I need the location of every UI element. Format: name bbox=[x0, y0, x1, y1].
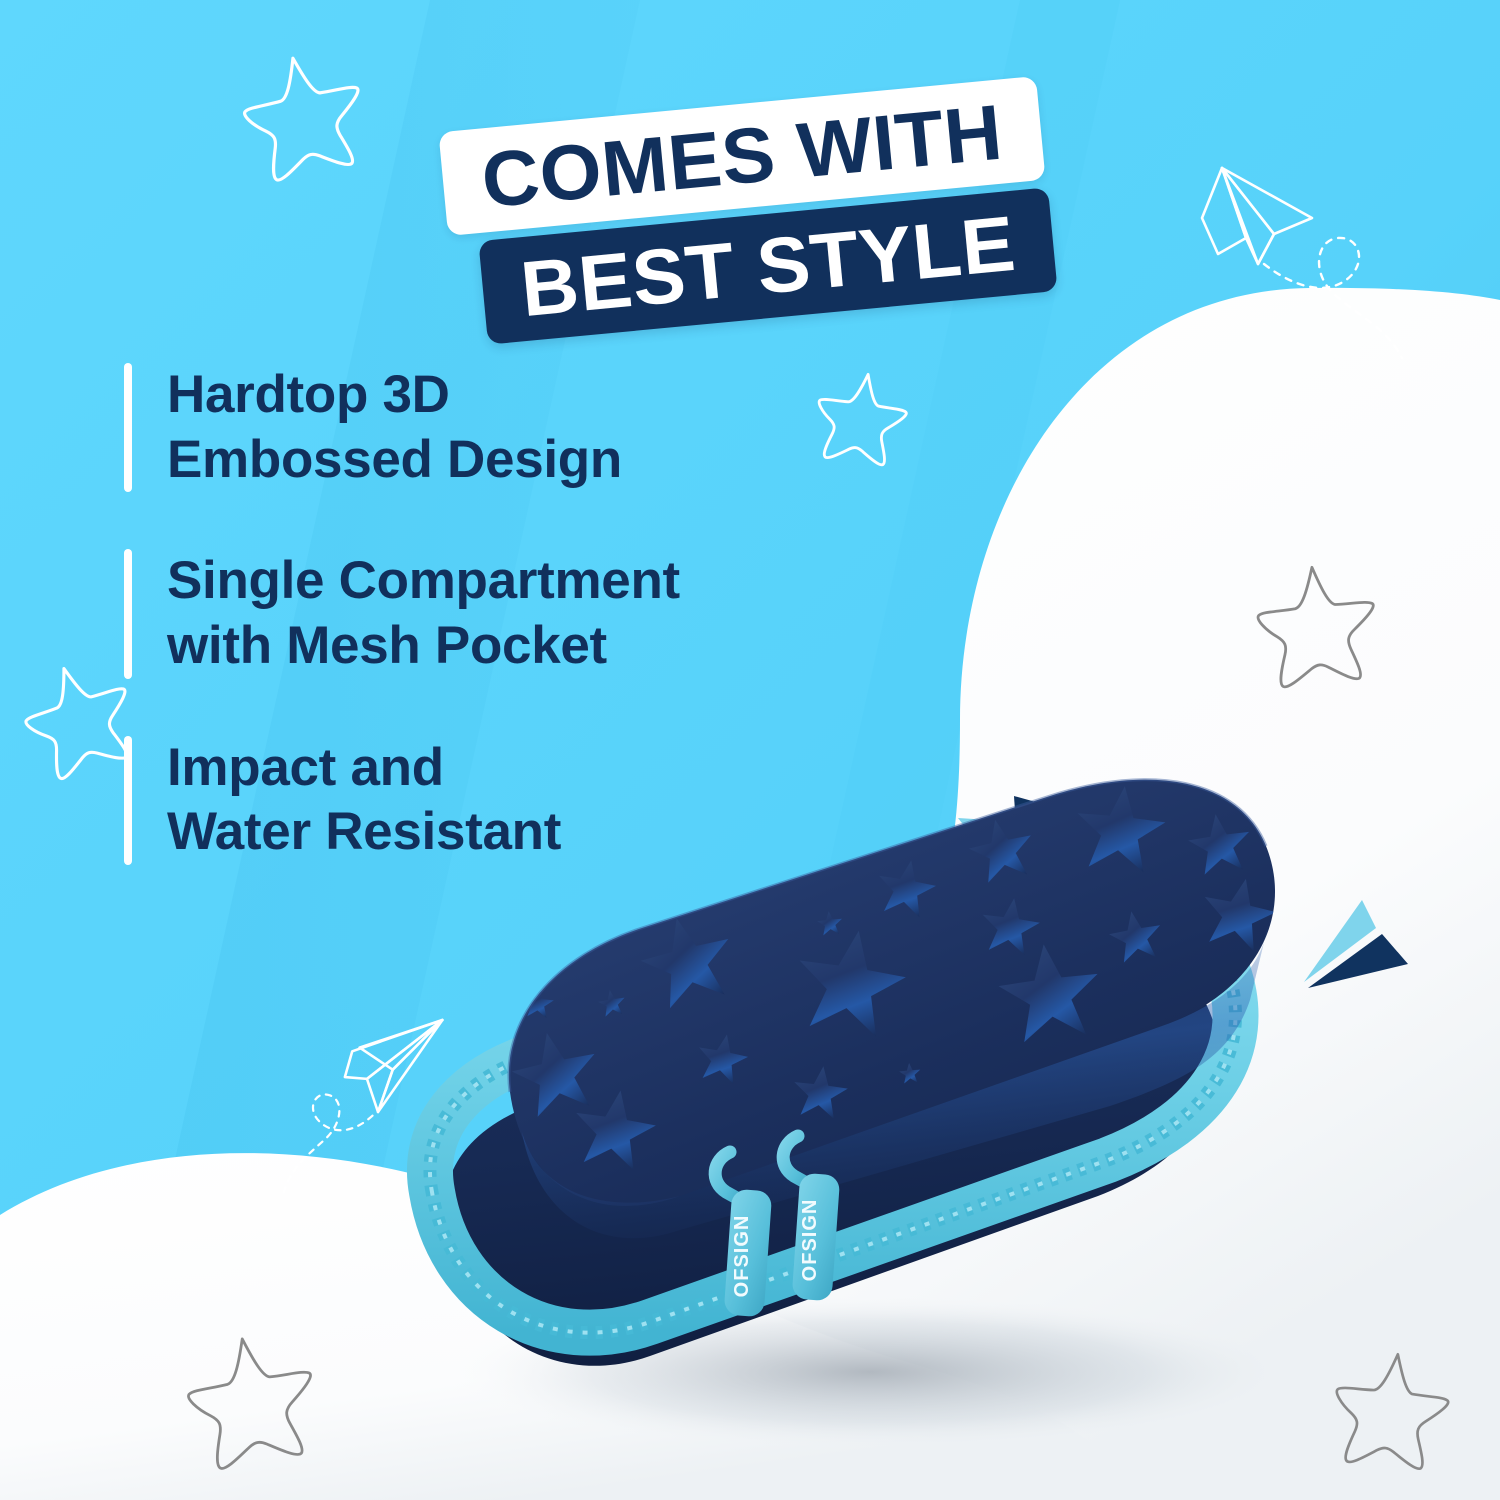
feature-text: Hardtop 3D Embossed Design bbox=[167, 363, 622, 492]
paper-plane-trail-top-right bbox=[1264, 238, 1402, 358]
promo-canvas: COMES WITH BEST STYLE Hardtop 3D Embosse… bbox=[0, 0, 1500, 1500]
feature-line2: with Mesh Pocket bbox=[167, 614, 680, 679]
product-image-pencil-case: OFSIGN OFSIGN bbox=[350, 760, 1410, 1500]
feature-text: Single Compartment with Mesh Pocket bbox=[167, 549, 680, 678]
feature-accent-bar bbox=[124, 363, 132, 492]
feature-line1: Single Compartment bbox=[167, 551, 680, 610]
feature-item-single-compartment-with-mesh-pocket: Single Compartment with Mesh Pocket bbox=[124, 549, 844, 678]
feature-line1: Hardtop 3D bbox=[167, 365, 450, 424]
star-on-white-bottom-left bbox=[180, 1328, 324, 1472]
feature-accent-bar bbox=[124, 736, 132, 865]
feature-accent-bar bbox=[124, 549, 132, 678]
star-on-white-right bbox=[1253, 561, 1380, 689]
headline-block: COMES WITH BEST STYLE bbox=[430, 62, 1070, 332]
paper-plane-top-right bbox=[1202, 168, 1402, 358]
zipper-pull-label: OFSIGN bbox=[799, 1199, 821, 1282]
sparkle-lower bbox=[1304, 900, 1408, 988]
feature-item-hardtop-3d-embossed-design: Hardtop 3D Embossed Design bbox=[124, 363, 844, 492]
zipper-pull-label: OFSIGN bbox=[731, 1215, 753, 1298]
star-top-left bbox=[235, 46, 372, 184]
feature-line2: Embossed Design bbox=[167, 428, 622, 493]
